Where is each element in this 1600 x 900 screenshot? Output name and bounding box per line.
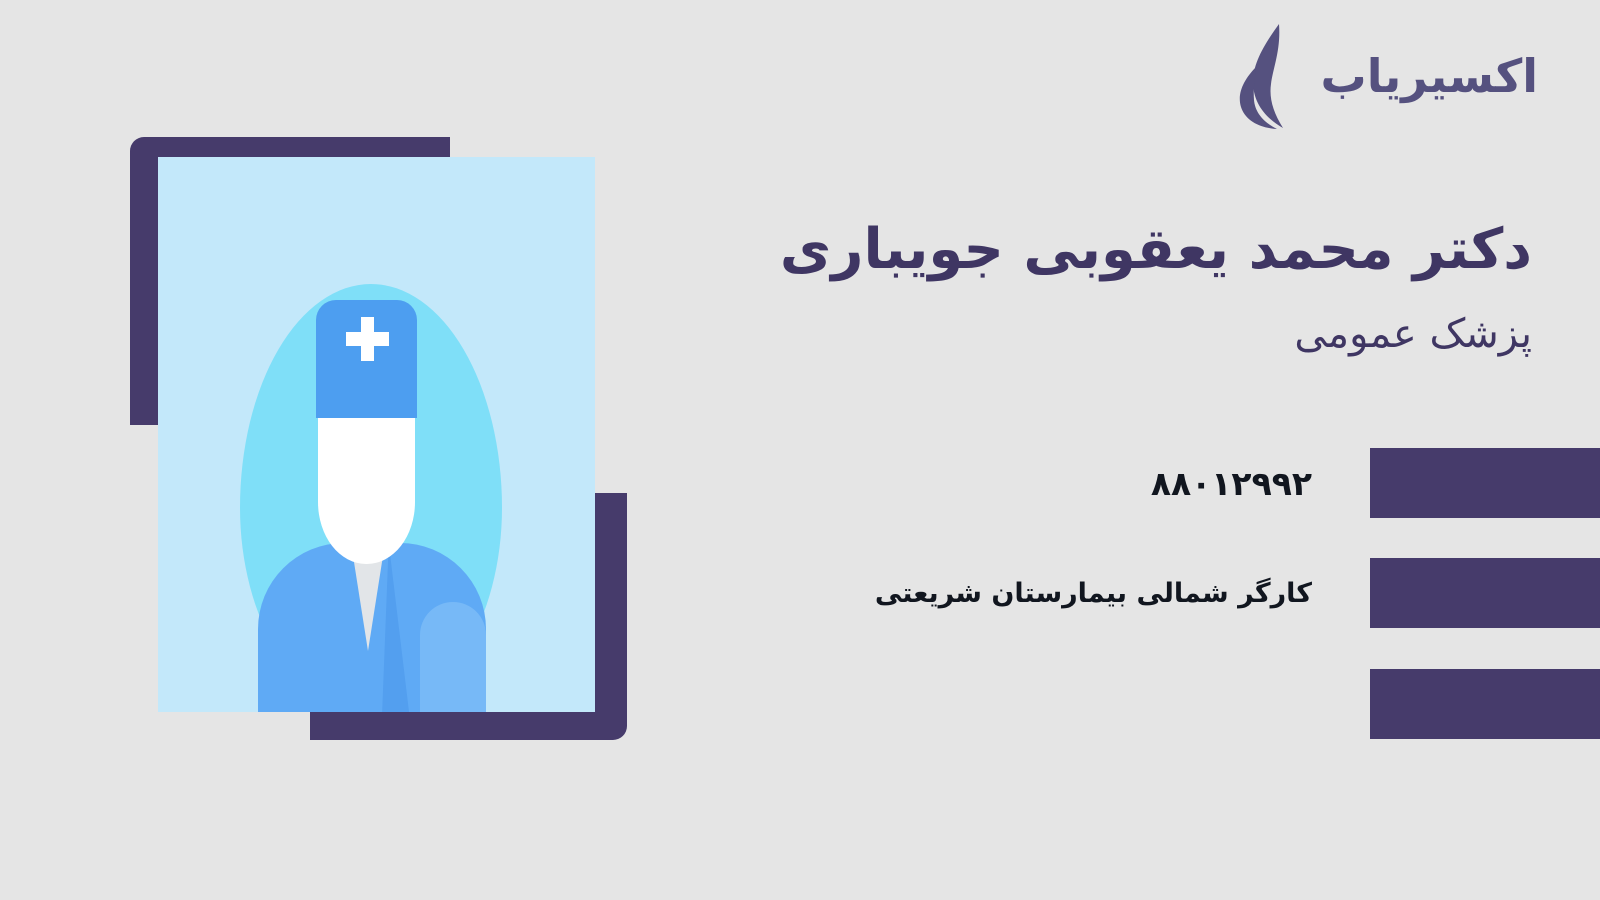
decor-bar-2	[1370, 558, 1600, 628]
doctor-phone: ۸۸۰۱۲۹۹۲	[692, 449, 1312, 519]
doctor-illustration	[0, 0, 700, 800]
doctor-arm-shade	[420, 602, 486, 712]
doctor-address: کارگر شمالی بیمارستان شریعتی	[692, 559, 1312, 629]
doctor-name: دکتر محمد یعقوبی جویباری	[612, 215, 1532, 285]
decor-bar-1	[1370, 448, 1600, 518]
flame-droplet-icon	[1229, 22, 1307, 130]
doctor-specialty: پزشک عمومی	[612, 309, 1532, 359]
doctor-photo-panel	[158, 157, 595, 712]
business-card-canvas: اکسیریاب دکتر محمد یعقوبی جویباری پزشک ع…	[0, 0, 1600, 900]
decorative-bars	[1370, 0, 1600, 900]
medical-cross-icon-bar	[346, 332, 389, 346]
decor-bar-3	[1370, 669, 1600, 739]
doctor-info-block: دکتر محمد یعقوبی جویباری پزشک عمومی	[612, 215, 1532, 359]
